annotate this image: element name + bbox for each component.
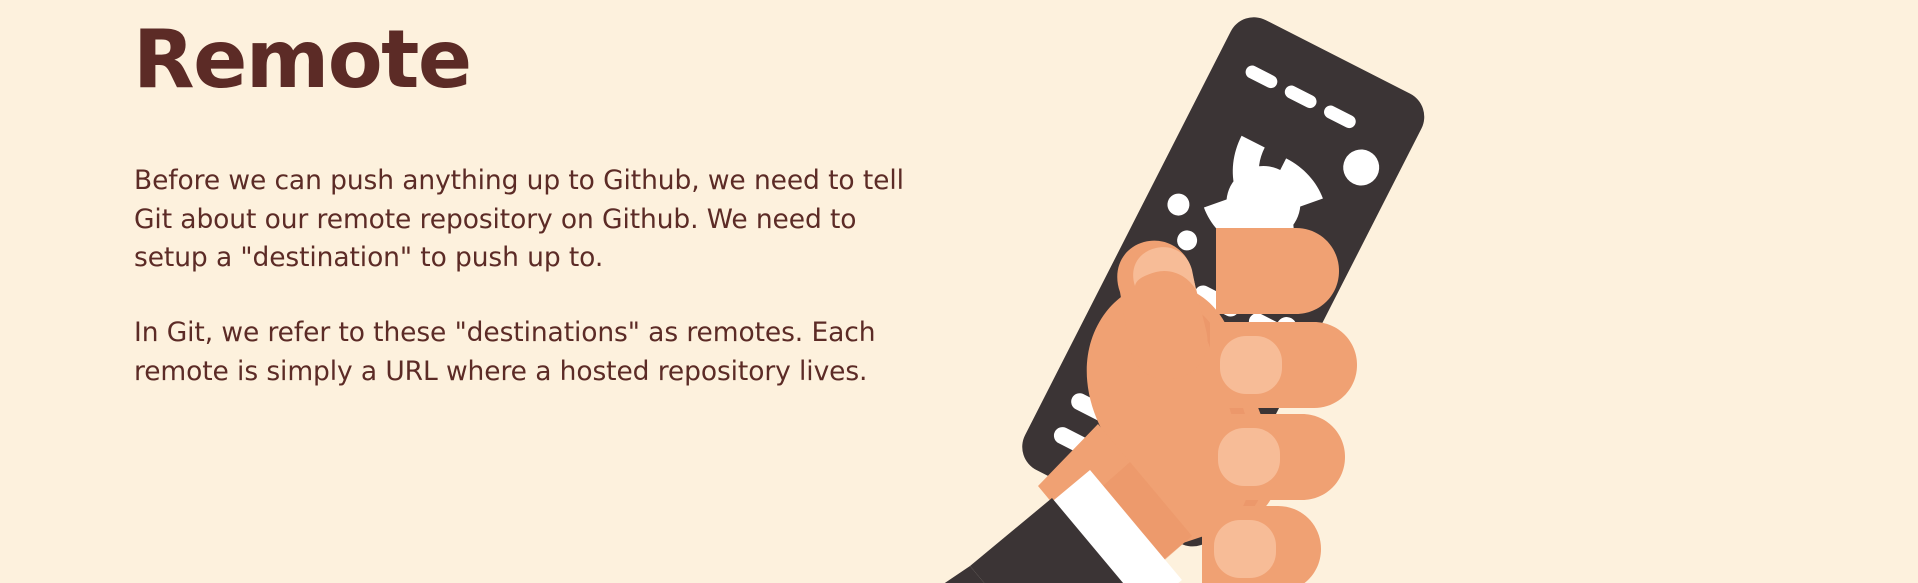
paragraph-line: remote is simply a URL where a hosted re…	[134, 353, 934, 392]
paragraph-line: In Git, we refer to these "destinations"…	[134, 314, 934, 353]
paragraph-line: Git about our remote repository on Githu…	[134, 201, 934, 240]
hand-finger-pinky-nail	[1214, 520, 1276, 578]
hand-finger-ring-nail	[1218, 428, 1280, 486]
hand-finger-middle-nail	[1220, 336, 1282, 394]
page-title: Remote	[133, 14, 471, 106]
body-paragraph-2: In Git, we refer to these "destinations"…	[134, 314, 934, 391]
text-column: Remote Before we can push anything up to…	[133, 0, 963, 583]
body-paragraph-1: Before we can push anything up to Github…	[134, 162, 934, 278]
paragraph-line: setup a "destination" to push up to.	[134, 239, 934, 278]
paragraph-line: Before we can push anything up to Github…	[134, 162, 934, 201]
hand-holding-remote-illustration	[930, 0, 1918, 583]
slide-canvas: Remote Before we can push anything up to…	[0, 0, 1918, 583]
hand-finger-index	[1216, 228, 1339, 314]
